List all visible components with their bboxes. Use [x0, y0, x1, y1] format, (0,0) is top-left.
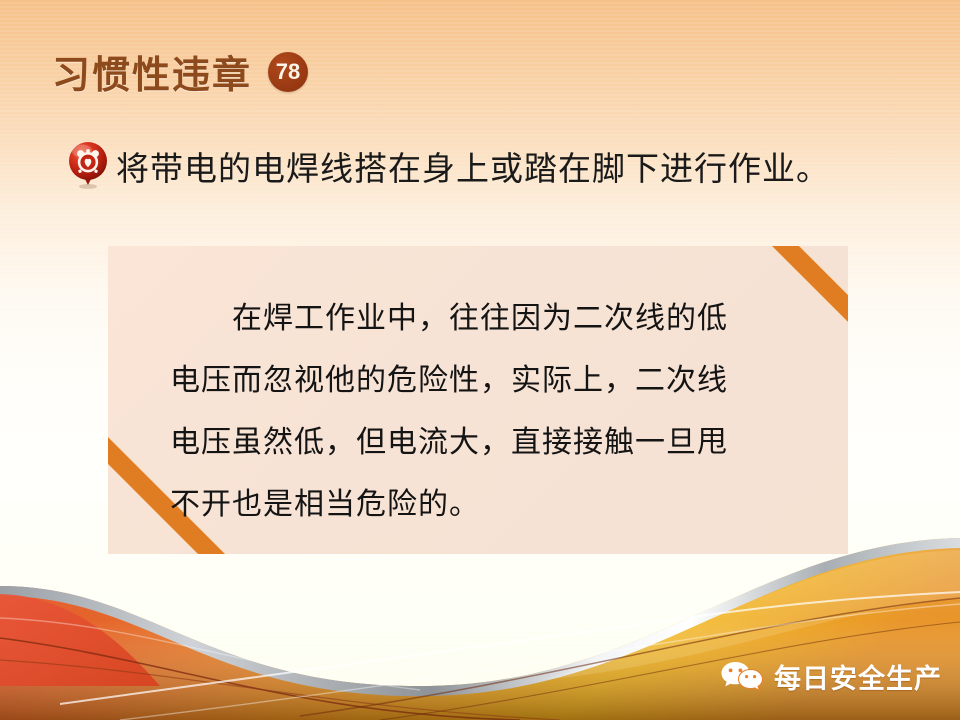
body-line: 不开也是相当危险的。 — [170, 474, 810, 536]
body-text: 在焊工作业中，往往因为二次线的低 电压而忽视他的危险性，实际上，二次线 电压虽然… — [108, 246, 848, 536]
content-box: 在焊工作业中，往往因为二次线的低 电压而忽视他的危险性，实际上，二次线 电压虽然… — [108, 246, 848, 554]
headline-row: 将带电的电焊线搭在身上或踏在脚下进行作业。 — [66, 140, 946, 192]
footer-label: 每日安全生产 — [774, 657, 942, 696]
page-title: 习惯性违章 — [52, 44, 252, 99]
body-line: 电压而忽视他的危险性，实际上，二次线 — [170, 350, 810, 412]
alarm-clock-marker-icon — [66, 140, 110, 192]
page-number-badge: 78 — [268, 52, 308, 92]
body-line: 在焊工作业中，往往因为二次线的低 — [170, 288, 810, 350]
page-title-row: 习惯性违章 78 — [52, 44, 308, 99]
headline-text: 将带电的电焊线搭在身上或踏在脚下进行作业。 — [116, 142, 830, 190]
wechat-icon — [720, 660, 764, 694]
body-line: 电压虽然低，但电流大，直接接触一旦甩 — [170, 412, 810, 474]
slide-canvas: 习惯性违章 78 — [0, 0, 960, 720]
footer-brand: 每日安全生产 — [720, 657, 942, 696]
